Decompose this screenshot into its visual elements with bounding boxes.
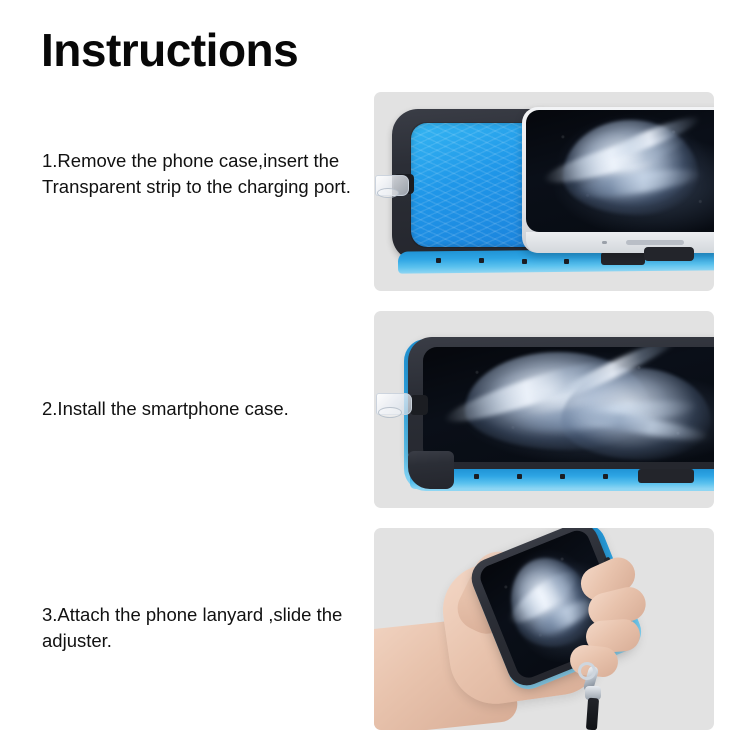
transparent-strip-loop <box>377 188 399 198</box>
step-2-text: 2.Install the smartphone case. <box>42 396 372 422</box>
case-vent <box>479 258 484 263</box>
step-1-image-panel <box>374 92 714 291</box>
step-3-image-panel <box>374 528 714 730</box>
step-3-text: 3.Attach the phone lanyard ,slide the ad… <box>42 602 372 655</box>
step-2-image-panel <box>374 311 714 508</box>
phone-installed-in-case-illustration <box>374 311 714 508</box>
phone-speaker-grille <box>626 240 684 245</box>
phone-case-with-transparent-strip-illustration <box>374 92 714 291</box>
case-vent <box>474 474 479 479</box>
step-1-text: 1.Remove the phone case,insert the Trans… <box>42 148 372 201</box>
case-bumper-corner <box>408 451 454 489</box>
case-vent <box>517 474 522 479</box>
transparent-strip-loop <box>378 407 402 418</box>
case-vent <box>522 259 527 264</box>
case-side-button <box>601 252 645 265</box>
case-vent <box>560 474 565 479</box>
case-vent <box>564 259 569 264</box>
phone-screen-wallpaper <box>423 347 714 462</box>
hand-holding-phone-with-lanyard-illustration <box>374 528 714 730</box>
case-vent <box>436 258 441 263</box>
case-vent <box>603 474 608 479</box>
case-side-button <box>638 469 694 483</box>
lanyard-cord <box>586 698 599 730</box>
page-title: Instructions <box>41 24 298 77</box>
instructions-page: Instructions 1.Remove the phone case,ins… <box>0 0 750 750</box>
charging-port-cutout <box>410 395 428 415</box>
phone-screen-wallpaper <box>526 110 714 232</box>
phone-port-dot <box>602 241 607 244</box>
phone-side-button <box>644 247 694 261</box>
